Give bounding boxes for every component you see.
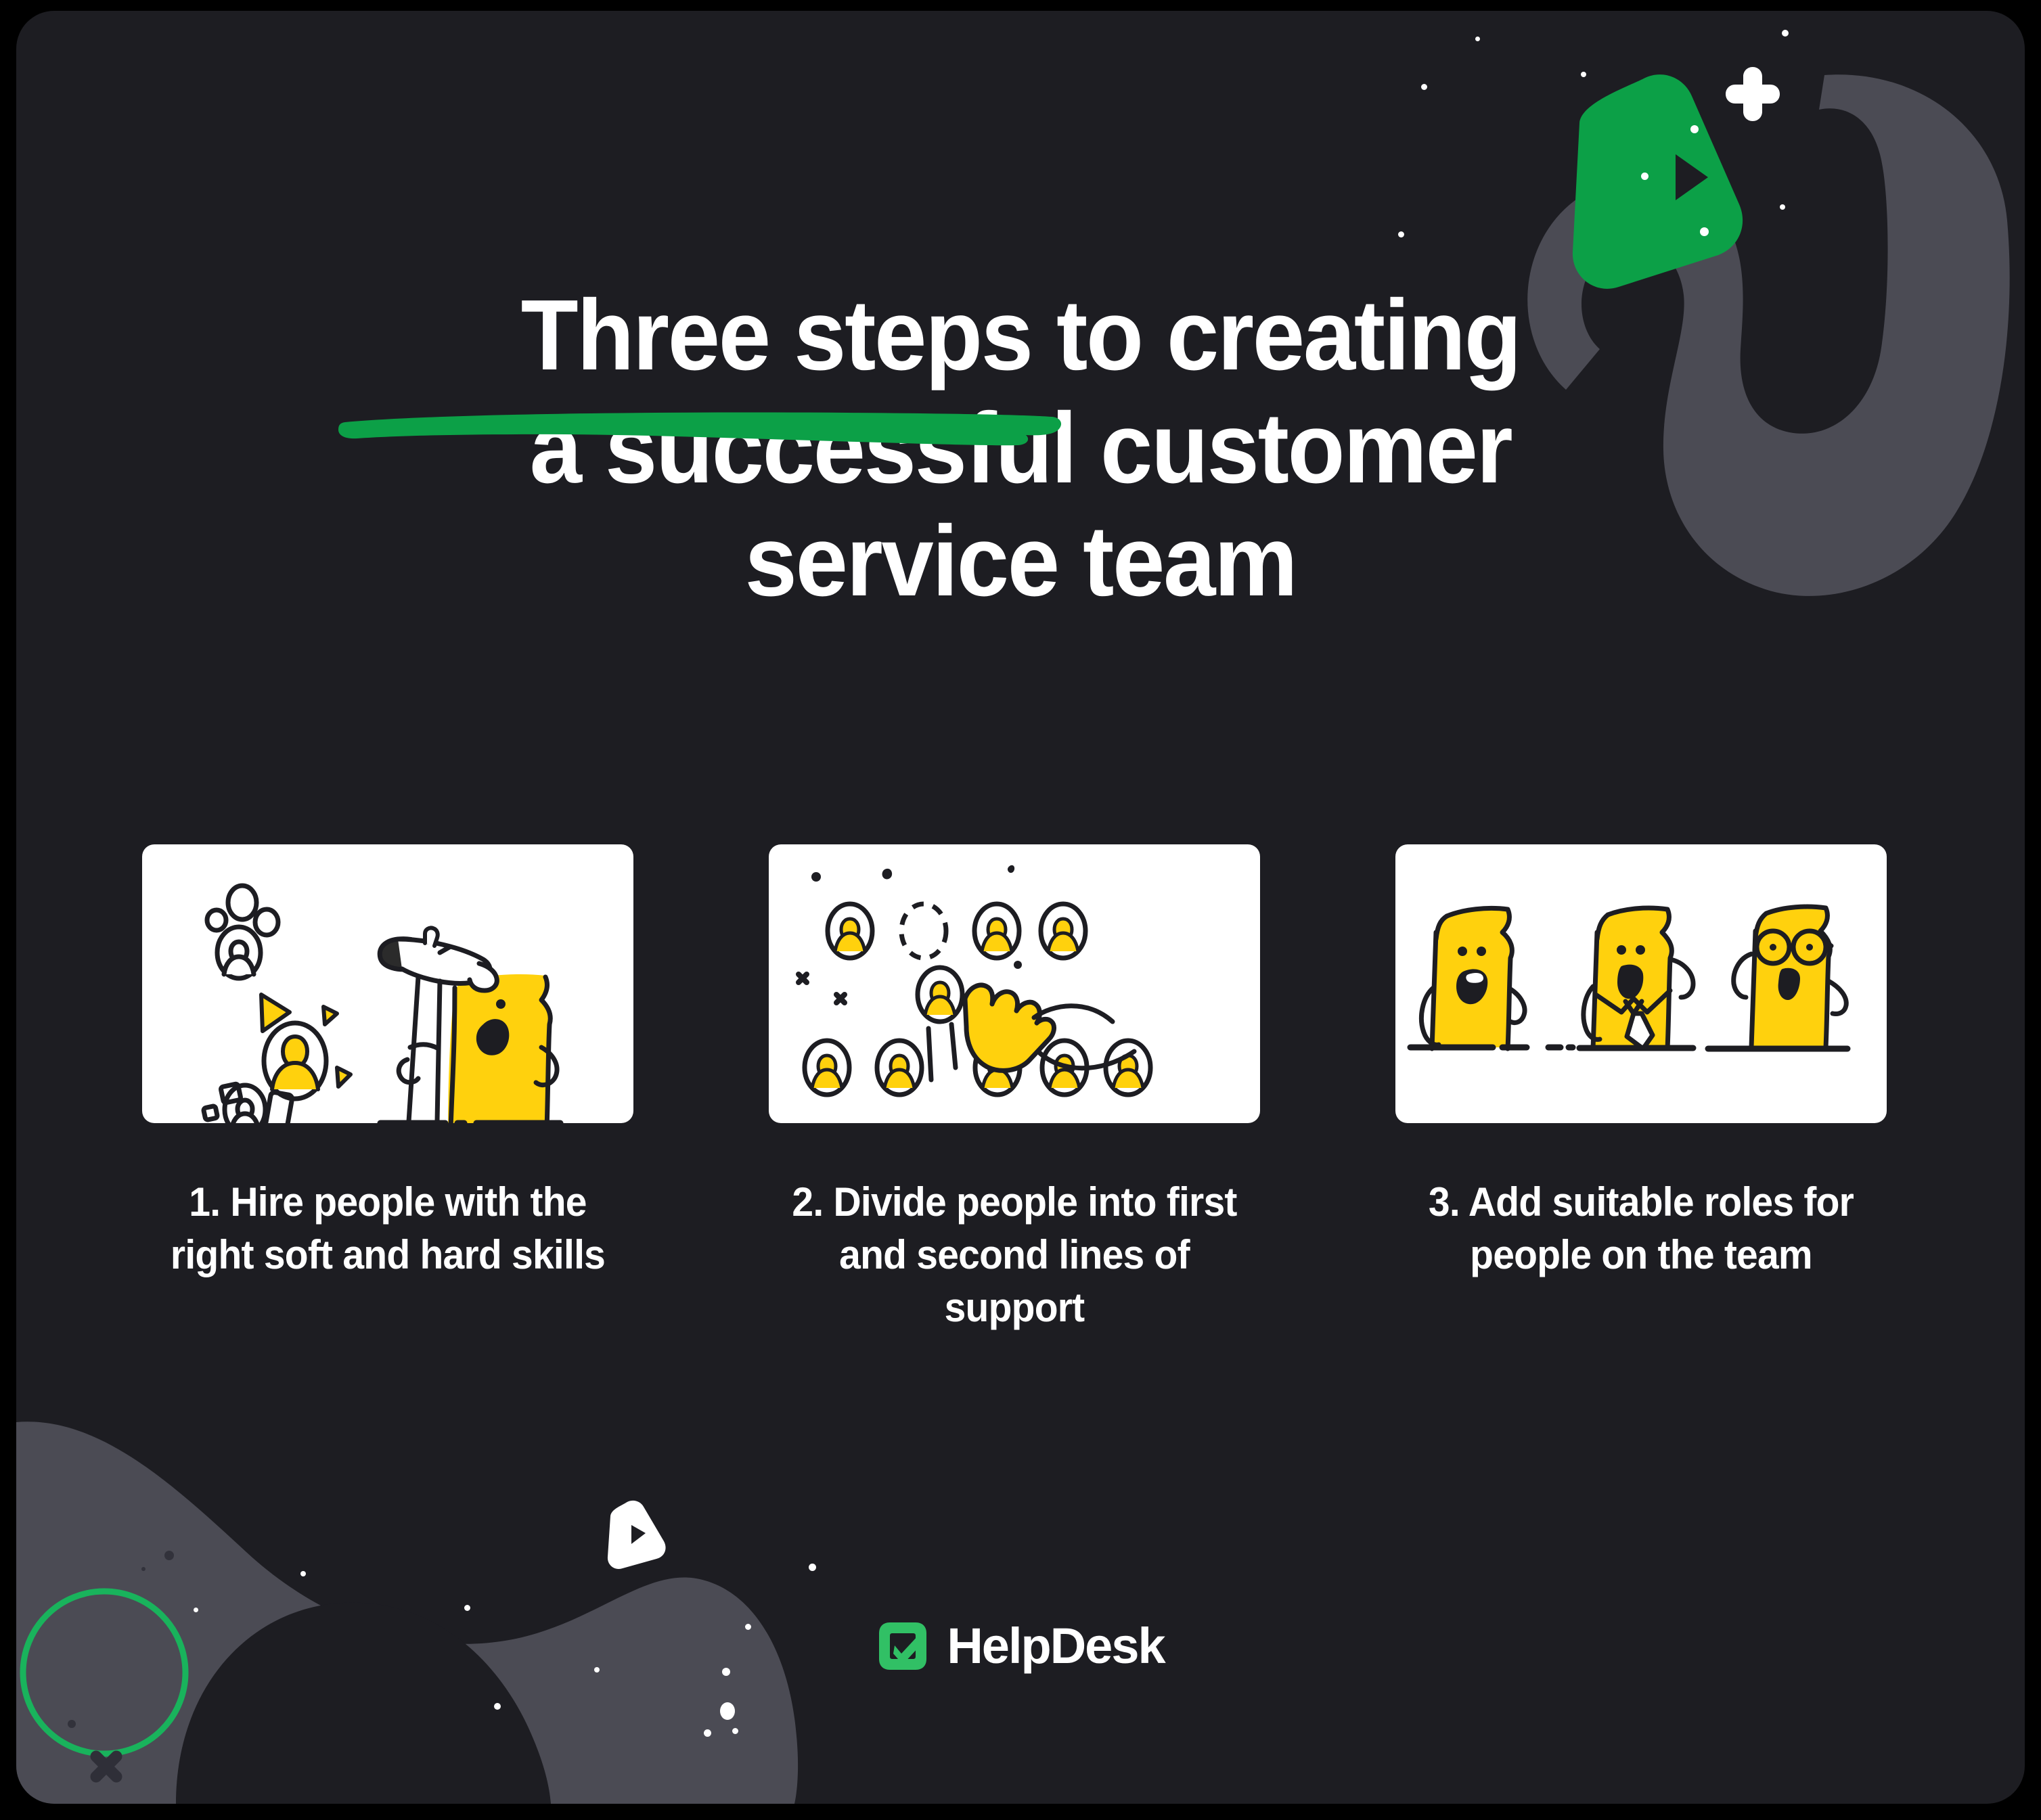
illustration-card-2 <box>769 844 1260 1123</box>
organic-blob-shape <box>16 1421 798 1804</box>
step-column-2: 2. Divide people into first and second l… <box>769 844 1260 1334</box>
star-dot <box>1581 72 1586 77</box>
star-dot <box>1475 37 1480 41</box>
three-characters-with-roles-illustration <box>1395 844 1887 1123</box>
poster-root: Three steps to creatinga successful cust… <box>0 0 2041 1820</box>
star-dot <box>720 1702 735 1720</box>
star-dot <box>1421 84 1427 90</box>
checkbox-check-icon <box>876 1620 929 1673</box>
character-plain <box>1421 908 1525 1049</box>
star-dot <box>1700 227 1709 236</box>
page-title: Three steps to creatinga successful cust… <box>76 279 1965 618</box>
telescope-character-scouting-avatars-illustration <box>142 844 633 1123</box>
play-triangle-icon-bottom <box>608 1501 666 1569</box>
title-block: Three steps to creatinga successful cust… <box>16 279 2025 618</box>
play-triangle-icon-top <box>1573 74 1743 289</box>
star-dot <box>1780 204 1785 210</box>
steps-row: 1. Hire people with the right soft and h… <box>142 844 1887 1334</box>
step-column-3: 3. Add suitable roles for people on the … <box>1395 844 1887 1334</box>
title-underline-stroke <box>333 406 1064 447</box>
title-line-3: service team <box>745 505 1297 617</box>
star-dot <box>1398 231 1404 237</box>
step-caption-1: 1. Hire people with the right soft and h… <box>154 1176 621 1281</box>
star-dot <box>1690 125 1699 133</box>
star-dot <box>194 1608 198 1612</box>
star-dot <box>1782 30 1789 37</box>
character-with-tie <box>1584 908 1693 1049</box>
x-mark-icon <box>96 1756 116 1777</box>
hand-arranging-avatars-into-rows-illustration <box>769 844 1260 1123</box>
star-dot <box>494 1703 501 1710</box>
step-caption-2: 2. Divide people into first and second l… <box>781 1176 1248 1334</box>
poster-canvas: Three steps to creatinga successful cust… <box>16 11 2025 1804</box>
illustration-card-1 <box>142 844 633 1123</box>
title-line-1: Three steps to creating <box>521 279 1521 391</box>
helpdesk-logo[interactable]: HelpDesk <box>16 1620 2025 1673</box>
star-dot <box>704 1729 711 1737</box>
star-dot <box>1641 173 1648 180</box>
star-dot <box>809 1564 816 1571</box>
star-dot <box>732 1728 738 1734</box>
circle-outline <box>23 1591 185 1754</box>
step-column-1: 1. Hire people with the right soft and h… <box>142 844 633 1334</box>
step-caption-3: 3. Add suitable roles for people on the … <box>1408 1176 1875 1281</box>
brand-name: HelpDesk <box>947 1621 1164 1671</box>
star-dot <box>300 1571 306 1576</box>
character-with-glasses <box>1734 907 1847 1047</box>
star-dot <box>464 1605 470 1611</box>
plus-sparkle-icon <box>1726 67 1780 121</box>
illustration-card-3 <box>1395 844 1887 1123</box>
